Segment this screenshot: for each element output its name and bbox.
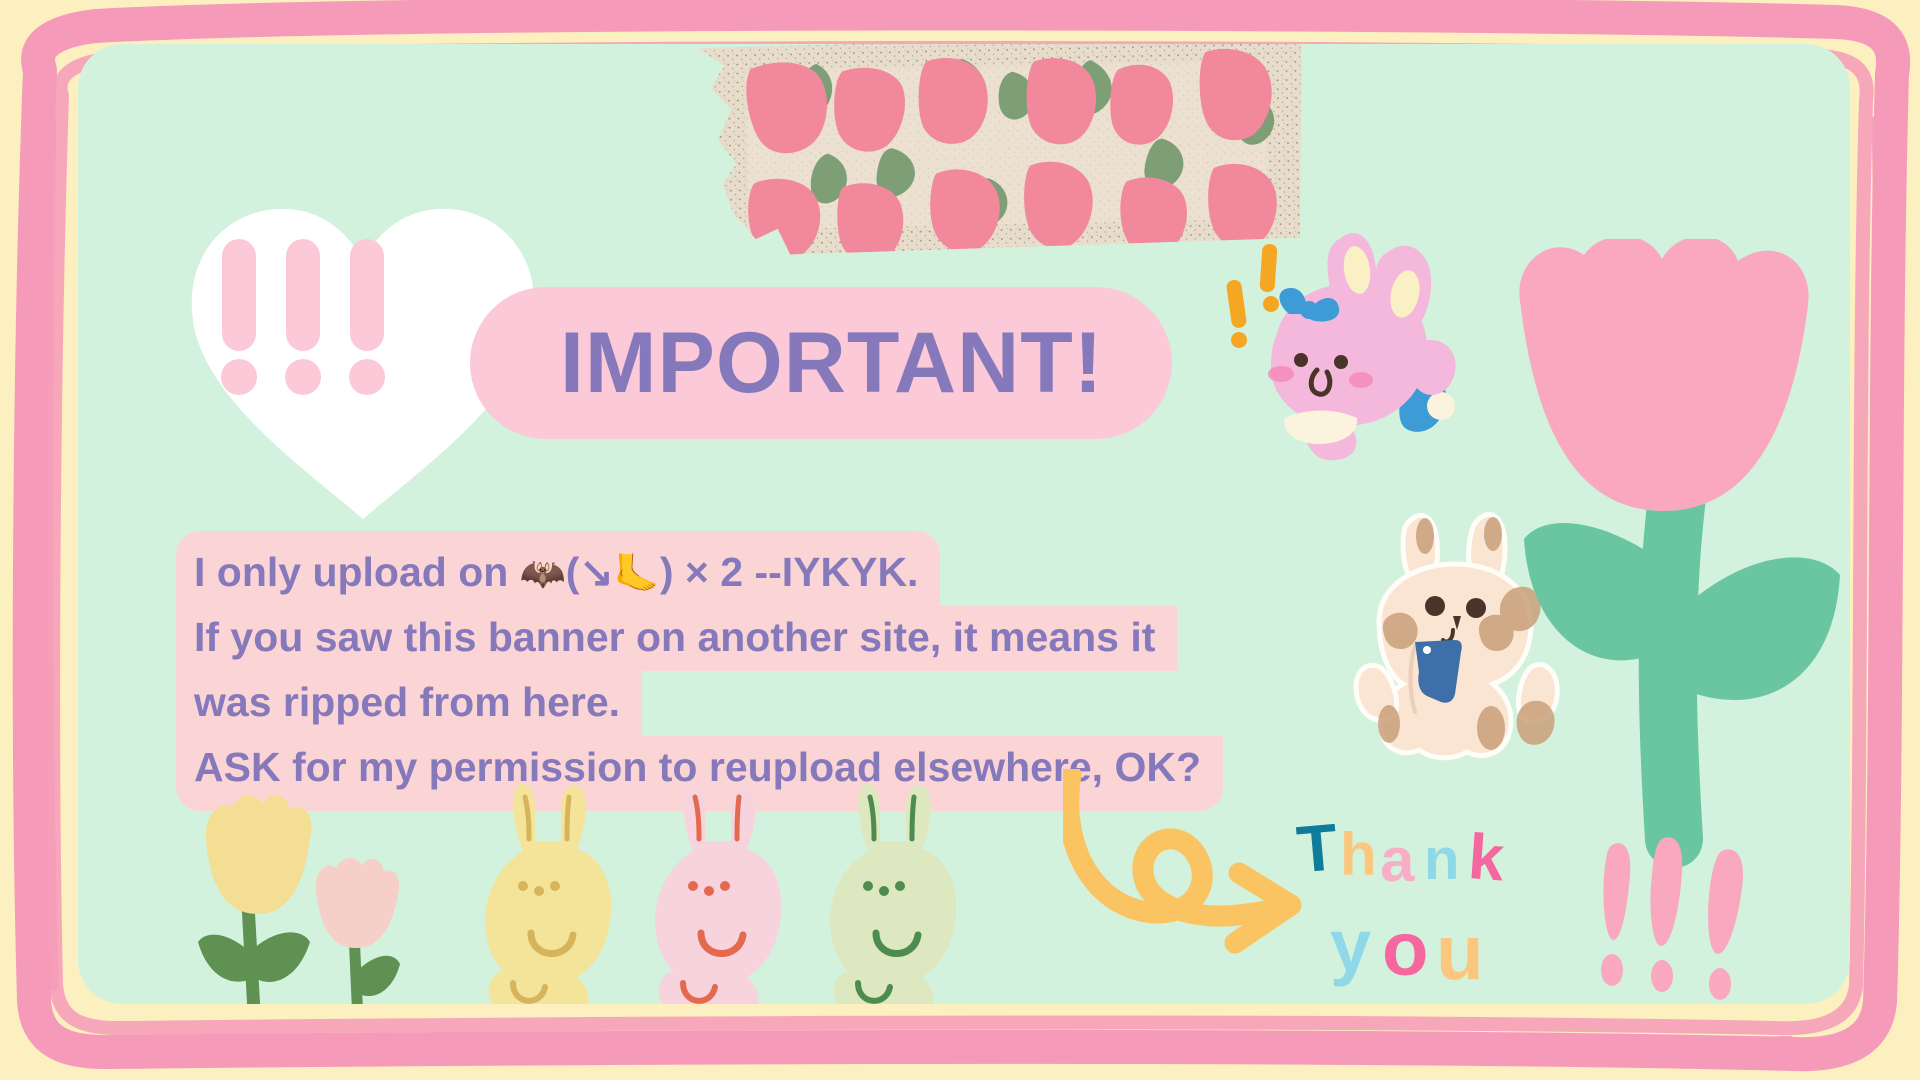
- body-line-2: If you saw this banner on another site, …: [176, 606, 1177, 671]
- thank-letter-h: h: [1340, 821, 1377, 888]
- you-letter-y: y: [1330, 904, 1371, 987]
- thank-letter-T: T: [1296, 809, 1341, 886]
- curly-arrow-icon: [1063, 769, 1323, 964]
- tulip-large-pink: [1468, 239, 1850, 879]
- body-line-1: I only upload on 🦇(↘🦶) × 2 --IYKYK.: [176, 531, 940, 606]
- thank-letter-n: n: [1424, 827, 1459, 892]
- exclamation-strokes: [1598, 834, 1778, 1004]
- banner-card: IMPORTANT! I only upload on 🦇(↘🦶) × 2 --…: [78, 44, 1850, 1004]
- thank-letter-a: a: [1380, 826, 1415, 895]
- gummy-bunny-pink: [643, 779, 793, 1004]
- thank-you-lettering: T h a n k y o u: [1296, 809, 1596, 1004]
- you-letter-u: u: [1436, 908, 1484, 996]
- bat-icon: 🦇: [520, 553, 566, 594]
- gummy-bunny-yellow: [473, 779, 623, 1004]
- tulip-pair-small: [170, 782, 400, 1004]
- washi-tape-tulips: [690, 44, 1314, 262]
- heading-pill: IMPORTANT!: [470, 287, 1172, 439]
- thank-letter-k: k: [1466, 820, 1507, 894]
- body-line-3: was ripped from here.: [176, 671, 642, 736]
- you-letter-o: o: [1382, 907, 1428, 992]
- page-title: IMPORTANT!: [560, 320, 1103, 406]
- foot-icon: 🦶: [614, 553, 660, 594]
- gummy-bunny-green: [818, 779, 968, 1004]
- pink-bunny-with-bow: [1223, 222, 1483, 462]
